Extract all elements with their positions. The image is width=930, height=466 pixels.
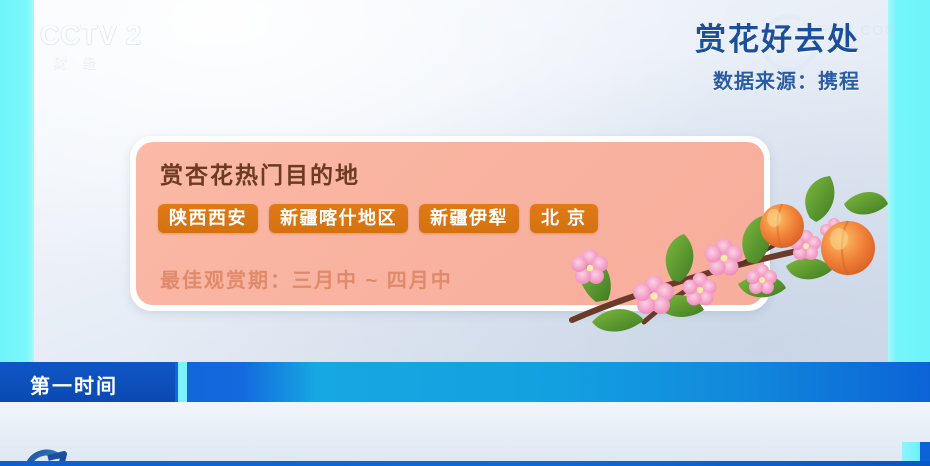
destination-card: 赏杏花热门目的地 陕西西安 新疆喀什地区 新疆伊犁 北 京 最佳观赏期：三月中 … — [130, 136, 770, 311]
data-source-label: 数据来源：携程 — [695, 65, 860, 94]
graphics-stage: CCTV 2 财经 NEWS COM 赏花好去处 数据来源：携程 赏杏花热门目的… — [0, 0, 930, 362]
destination-tag-list: 陕西西安 新疆喀什地区 新疆伊犁 北 京 — [158, 204, 609, 233]
chip-accent-tick — [178, 362, 187, 402]
right-cyan-edge — [888, 0, 930, 362]
headline-strip: 一年一度踏青季 盘点赏花好去处 — [0, 402, 930, 466]
page-title: 赏花好去处 — [695, 22, 860, 58]
cctv-channel-number: 2 — [126, 20, 142, 50]
cctv-wordmark: CCTV — [40, 20, 118, 50]
program-bar: 第一时间 — [0, 362, 930, 402]
card-title: 赏杏花热门目的地 — [160, 156, 360, 190]
bottom-blue-baseline — [0, 461, 930, 466]
cctv-logo-subtitle: 财经 — [54, 53, 156, 72]
program-label: 第一时间 — [30, 370, 118, 399]
destination-tag[interactable]: 北 京 — [530, 204, 598, 233]
cctv-logo-text: CCTV 2 — [40, 22, 156, 49]
lower-third: 第一时间 一年一度踏青季 盘点赏花好去处 — [0, 362, 930, 466]
left-cyan-edge — [0, 0, 34, 362]
destination-tag[interactable]: 新疆喀什地区 — [269, 204, 408, 233]
destination-card-inner: 赏杏花热门目的地 陕西西安 新疆喀什地区 新疆伊犁 北 京 最佳观赏期：三月中 … — [136, 142, 764, 305]
broadcast-screenshot: CCTV 2 财经 NEWS COM 赏花好去处 数据来源：携程 赏杏花热门目的… — [0, 0, 930, 466]
program-chip: 第一时间 — [0, 362, 175, 402]
destination-tag[interactable]: 陕西西安 — [158, 204, 258, 233]
cctv-channel-logo: CCTV 2 财经 — [40, 22, 156, 80]
topic-block: 赏花好去处 数据来源：携程 — [695, 22, 860, 94]
best-viewing-period: 最佳观赏期：三月中 ~ 四月中 — [160, 264, 453, 293]
bar-pattern — [180, 362, 930, 402]
destination-tag[interactable]: 新疆伊犁 — [419, 204, 519, 233]
